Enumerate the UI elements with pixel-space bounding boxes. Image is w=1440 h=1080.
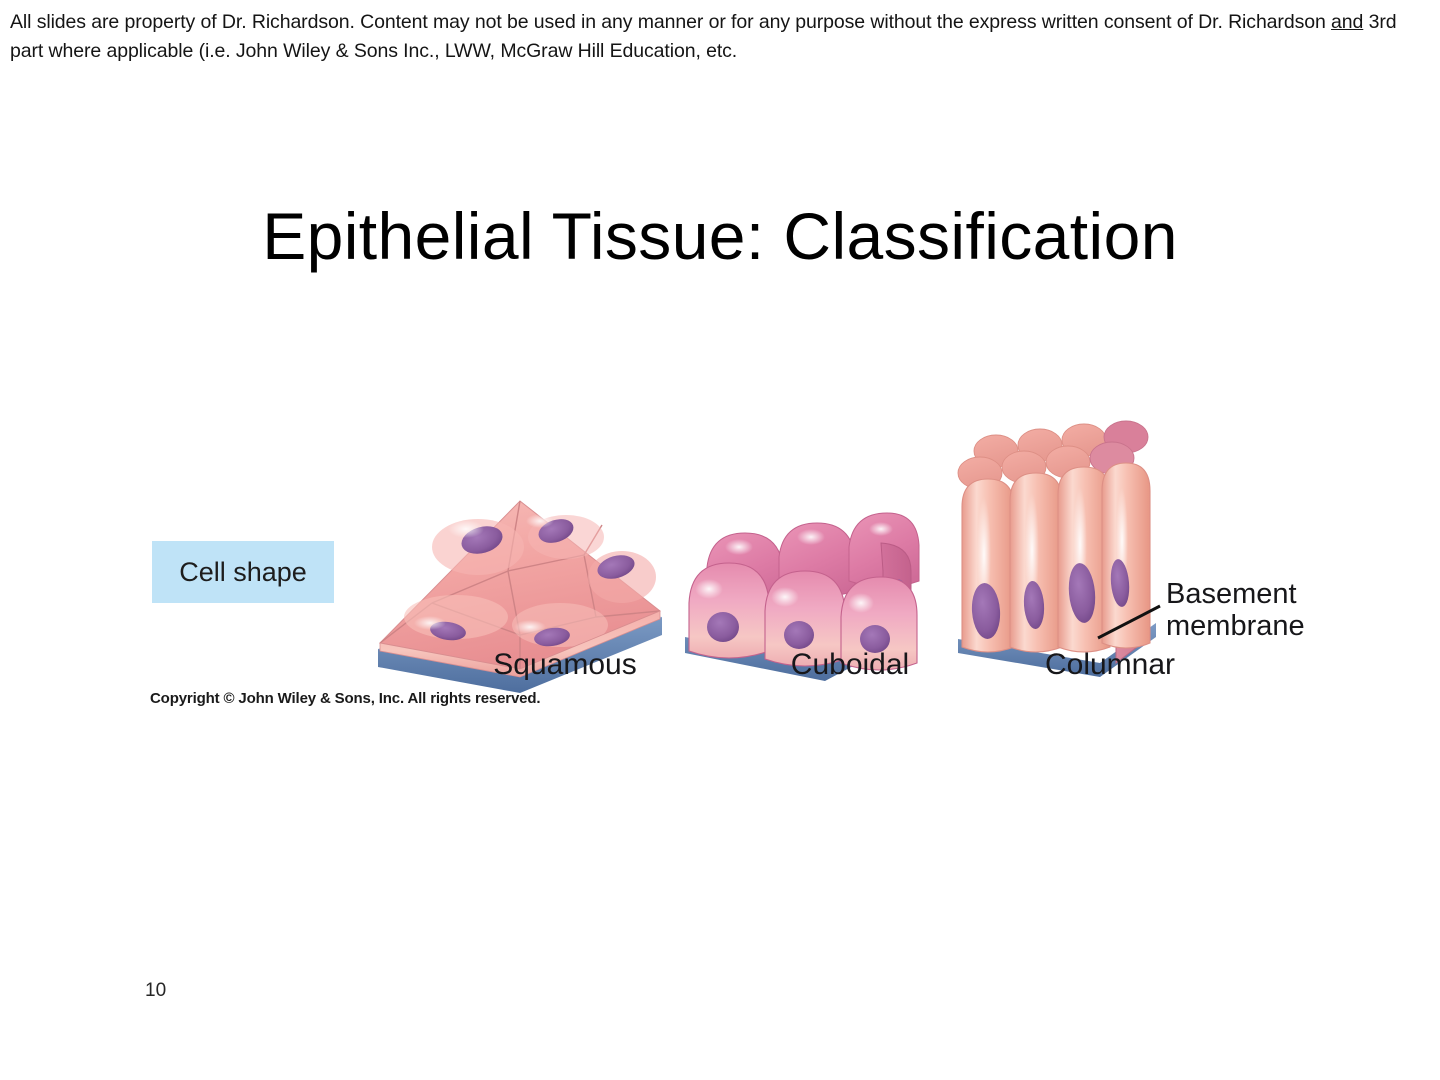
copyright-notice: Copyright © John Wiley & Sons, Inc. All … — [150, 690, 540, 707]
cuboidal-highlight — [771, 587, 799, 607]
disclaimer-underlined-word: and — [1331, 11, 1363, 33]
cuboidal-cell — [689, 563, 769, 658]
cuboidal-highlight — [725, 539, 753, 555]
cuboidal-highlight — [869, 522, 893, 536]
squamous-highlight — [514, 620, 546, 634]
cell-shape-label-text: Cell shape — [152, 541, 334, 603]
cuboidal-nucleus — [707, 612, 739, 642]
cuboidal-highlight — [695, 579, 723, 599]
cell-shape-label-box: Cell shape — [152, 541, 334, 603]
panel-caption-squamous: Squamous — [440, 648, 690, 682]
disclaimer-text-part-1: All slides are property of Dr. Richardso… — [10, 11, 1331, 33]
squamous-highlight — [526, 514, 554, 528]
basement-membrane-callout: Basement membrane — [1166, 578, 1305, 642]
panel-caption-cuboidal: Cuboidal — [735, 648, 965, 682]
cuboidal-nucleus — [784, 621, 814, 649]
cuboidal-highlight — [848, 593, 874, 613]
slide-disclaimer: All slides are property of Dr. Richardso… — [10, 8, 1420, 66]
basement-membrane-line-1: Basement — [1166, 578, 1305, 610]
page-number: 10 — [145, 980, 166, 1002]
cuboidal-highlight — [797, 529, 825, 545]
page-title: Epithelial Tissue: Classification — [0, 198, 1440, 274]
squamous-highlight — [448, 520, 484, 538]
leader-line — [1098, 606, 1160, 638]
panel-caption-columnar: Columnar — [985, 648, 1235, 682]
basement-membrane-line-2: membrane — [1166, 610, 1305, 642]
epithelial-classification-figure: Cell shape — [130, 400, 1340, 720]
squamous-highlight — [414, 616, 446, 630]
